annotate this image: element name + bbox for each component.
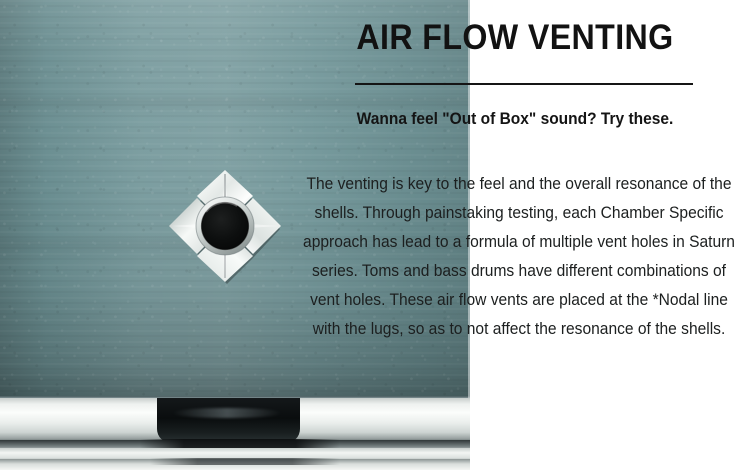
hoop-claw-bracket bbox=[157, 398, 300, 443]
claw-gloss-highlight bbox=[172, 408, 282, 418]
title-divider bbox=[355, 83, 693, 85]
page-subtitle: Wanna feel "Out of Box" sound? Try these… bbox=[308, 108, 722, 130]
body-copy-block: The venting is key to the feel and the o… bbox=[301, 170, 736, 344]
page-title: AIR FLOW VENTING bbox=[313, 16, 718, 60]
hoop-lower-band-shadow bbox=[150, 458, 340, 465]
drum-hoop bbox=[0, 396, 470, 470]
body-copy-paragraph: The venting is key to the feel and the o… bbox=[301, 170, 736, 344]
air-flow-venting-poster: AIR FLOW VENTING Wanna feel "Out of Box"… bbox=[0, 0, 750, 470]
drum-lug bbox=[165, 166, 285, 286]
